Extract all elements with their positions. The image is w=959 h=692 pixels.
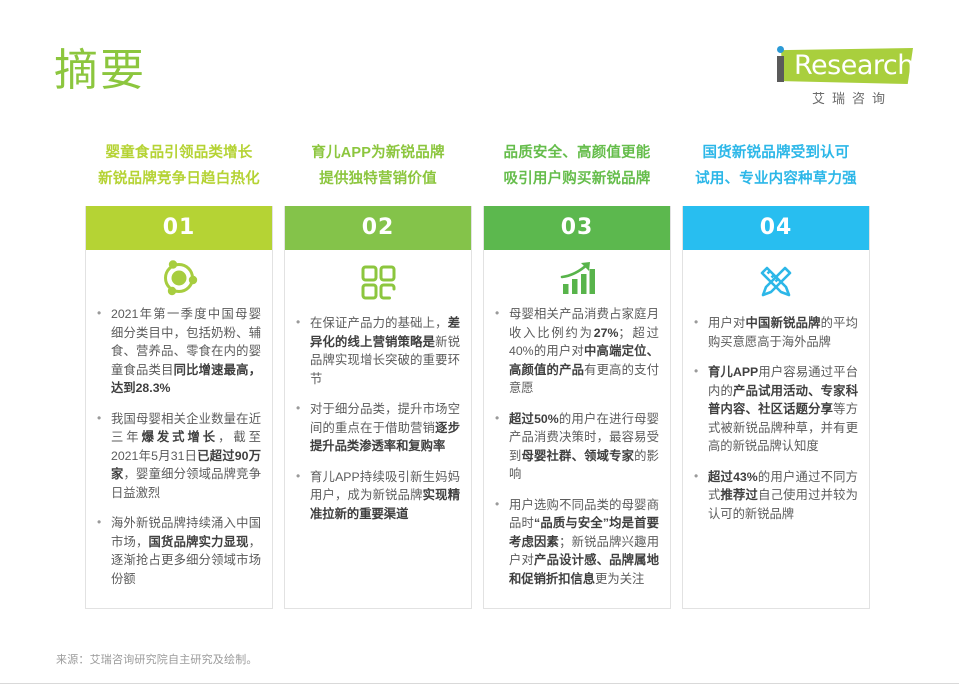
column-3-heading: 品质安全、高颜值更能 吸引用户购买新锐品牌 bbox=[483, 140, 671, 206]
list-item: 超过50%的用户在进行母婴产品消费决策时，最容易受到母婴社群、领域专家的影响 bbox=[493, 410, 659, 484]
list-item: 我国母婴相关企业数量在近三年爆发式增长，截至2021年5月31日已超过90万家，… bbox=[95, 410, 261, 503]
column-3-number-bar: 03 bbox=[484, 206, 670, 250]
summary-column-2: 育儿APP为新锐品牌 提供独特营销价值 02 在保证产品力的基础上，差异化的线上… bbox=[284, 140, 472, 609]
column-2-bullet-list: 在保证产品力的基础上，差异化的线上营销策略是新锐品牌实现增长突破的重要环节 对于… bbox=[294, 314, 460, 523]
column-2-heading: 育儿APP为新锐品牌 提供独特营销价值 bbox=[284, 140, 472, 206]
pencil-ruler-icon bbox=[683, 250, 869, 314]
column-4-heading-line2: 试用、专业内容种草力强 bbox=[682, 166, 870, 192]
column-4-body: 用户对中国新锐品牌的平均购买意愿高于海外品牌 育儿APP用户容易通过平台内的产品… bbox=[683, 314, 869, 608]
list-item: 母婴相关产品消费占家庭月收入比例约为27%；超过40%的用户对中高端定位、高颜值… bbox=[493, 305, 659, 398]
column-3-heading-line1: 品质安全、高颜值更能 bbox=[504, 145, 651, 161]
logo-i-dot bbox=[777, 46, 784, 53]
slide-header: 摘要 Research 艾瑞咨询 bbox=[0, 0, 959, 125]
slide-root: 摘要 Research 艾瑞咨询 婴童食品引领品类增长 新锐品牌竞争日趋白热化 … bbox=[0, 0, 959, 692]
list-item: 育儿APP用户容易通过平台内的产品试用活动、专家科普内容、社区话题分享等方式被新… bbox=[692, 363, 858, 456]
growth-chart-icon bbox=[484, 250, 670, 305]
column-4-card: 04 用户对中国新锐品牌的平均购买意愿高于海外品牌 育儿AP bbox=[682, 206, 870, 609]
column-2-heading-line1: 育儿APP为新锐品牌 bbox=[311, 145, 444, 161]
summary-column-4: 国货新锐品牌受到认可 试用、专业内容种草力强 04 bbox=[682, 140, 870, 609]
footer-divider bbox=[0, 683, 959, 684]
column-1-card: 01 2021年第一季度中国母婴细分类目中，包括奶粉、辅食、营养品、零食在内的婴… bbox=[85, 206, 273, 609]
column-2-heading-line2: 提供独特营销价值 bbox=[284, 166, 472, 192]
column-4-number-bar: 04 bbox=[683, 206, 869, 250]
column-3-bullet-list: 母婴相关产品消费占家庭月收入比例约为27%；超过40%的用户对中高端定位、高颜值… bbox=[493, 305, 659, 588]
column-1-number-bar: 01 bbox=[86, 206, 272, 250]
list-item: 用户对中国新锐品牌的平均购买意愿高于海外品牌 bbox=[692, 314, 858, 351]
summary-column-3: 品质安全、高颜值更能 吸引用户购买新锐品牌 03 bbox=[483, 140, 671, 609]
orbit-network-icon bbox=[86, 250, 272, 305]
page-title: 摘要 bbox=[54, 44, 146, 98]
summary-column-1: 婴童食品引领品类增长 新锐品牌竞争日趋白热化 01 2021年第一 bbox=[85, 140, 273, 609]
logo-subtitle: 艾瑞咨询 bbox=[791, 88, 913, 107]
column-3-body: 母婴相关产品消费占家庭月收入比例约为27%；超过40%的用户对中高端定位、高颜值… bbox=[484, 305, 670, 608]
list-item: 海外新锐品牌持续涌入中国市场，国货品牌实力显现，逐渐抢占更多细分领域市场份额 bbox=[95, 514, 261, 588]
column-4-heading: 国货新锐品牌受到认可 试用、专业内容种草力强 bbox=[682, 140, 870, 206]
logo-i-stem bbox=[777, 56, 784, 82]
column-2-card: 02 在保证产品力的基础上，差异化的线上营销策略是新锐品牌实现增长突破的重要环节… bbox=[284, 206, 472, 609]
column-3-heading-line2: 吸引用户购买新锐品牌 bbox=[483, 166, 671, 192]
column-1-heading-line2: 新锐品牌竞争日趋白热化 bbox=[85, 166, 273, 192]
summary-columns: 婴童食品引领品类增长 新锐品牌竞争日趋白热化 01 2021年第一 bbox=[0, 140, 959, 609]
column-1-body: 2021年第一季度中国母婴细分类目中，包括奶粉、辅食、营养品、零食在内的婴童食品… bbox=[86, 305, 272, 608]
column-3-card: 03 母婴相关产品消费占家庭月收入比例约为27%；超过40%的用户对中高端定位、… bbox=[483, 206, 671, 609]
column-1-bullet-list: 2021年第一季度中国母婴细分类目中，包括奶粉、辅食、营养品、零食在内的婴童食品… bbox=[95, 305, 261, 588]
list-item: 超过43%的用户通过不同方式推荐过自己使用过并较为认可的新锐品牌 bbox=[692, 468, 858, 524]
logo-badge: Research bbox=[763, 46, 913, 86]
list-item: 对于细分品类，提升市场空间的重点在于借助营销逐步提升品类渗透率和复购率 bbox=[294, 400, 460, 456]
list-item: 用户选购不同品类的母婴商品时“品质与安全”均是首要考虑因素；新锐品牌兴趣用户对产… bbox=[493, 496, 659, 589]
grid-apps-icon bbox=[285, 250, 471, 314]
column-1-heading: 婴童食品引领品类增长 新锐品牌竞争日趋白热化 bbox=[85, 140, 273, 206]
list-item: 在保证产品力的基础上，差异化的线上营销策略是新锐品牌实现增长突破的重要环节 bbox=[294, 314, 460, 388]
iresearch-logo: Research 艾瑞咨询 bbox=[763, 46, 913, 108]
logo-wordmark: Research bbox=[794, 50, 914, 82]
column-2-body: 在保证产品力的基础上，差异化的线上营销策略是新锐品牌实现增长突破的重要环节 对于… bbox=[285, 314, 471, 608]
list-item: 育儿APP持续吸引新生妈妈用户，成为新锐品牌实现精准拉新的重要渠道 bbox=[294, 468, 460, 524]
column-2-number-bar: 02 bbox=[285, 206, 471, 250]
list-item: 2021年第一季度中国母婴细分类目中，包括奶粉、辅食、营养品、零食在内的婴童食品… bbox=[95, 305, 261, 398]
source-note: 来源：艾瑞咨询研究院自主研究及绘制。 bbox=[56, 651, 258, 667]
column-1-heading-line1: 婴童食品引领品类增长 bbox=[106, 145, 253, 161]
column-4-bullet-list: 用户对中国新锐品牌的平均购买意愿高于海外品牌 育儿APP用户容易通过平台内的产品… bbox=[692, 314, 858, 523]
column-4-heading-line1: 国货新锐品牌受到认可 bbox=[703, 145, 850, 161]
